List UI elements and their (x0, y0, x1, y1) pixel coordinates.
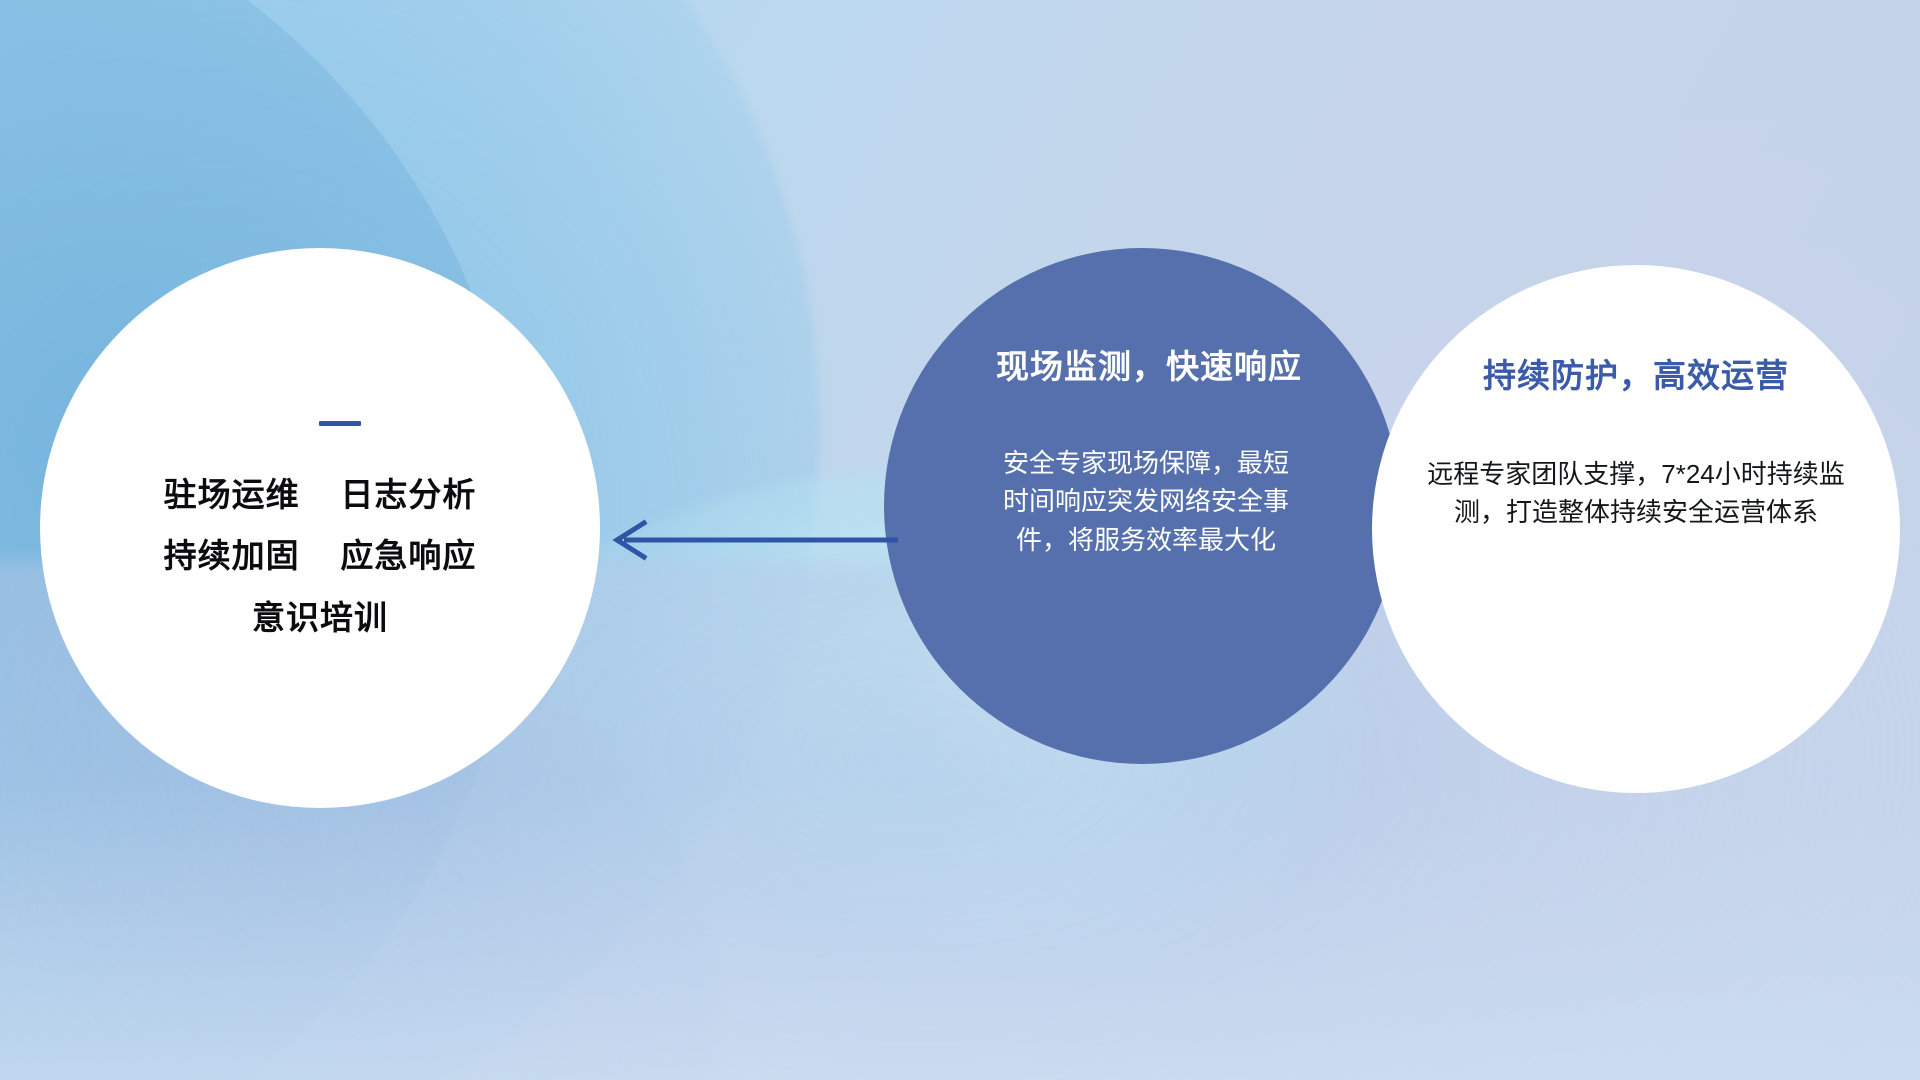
capability-list-item: 持续加固 应急响应 (164, 539, 477, 574)
capability-list: 驻场运维 日志分析 持续加固 应急响应 意识培训 (164, 478, 477, 636)
onsite-monitoring-title: 现场监测，快速响应 (996, 340, 1302, 388)
continuous-protection-title: 持续防护，高效运营 (1483, 349, 1789, 397)
continuous-protection-body: 远程专家团队支撑，7*24小时持续监测，打造整体持续安全运营体系 (1426, 455, 1846, 532)
arrow-left-icon (600, 512, 900, 568)
onsite-monitoring-content: 现场监测，快速响应 安全专家现场保障，最短时间响应突发网络安全事件，将服务效率最… (884, 248, 1400, 764)
background-bottom-light (0, 780, 1920, 1080)
capability-circle-left: 驻场运维 日志分析 持续加固 应急响应 意识培训 (40, 248, 600, 808)
onsite-monitoring-body: 安全专家现场保障，最短时间响应突发网络安全事件，将服务效率最大化 (996, 444, 1296, 559)
continuous-protection-circle: 持续防护，高效运营 远程专家团队支撑，7*24小时持续监测，打造整体持续安全运营… (1372, 265, 1900, 793)
capability-list-item: 驻场运维 日志分析 (164, 478, 477, 513)
capability-circle-left-content: 驻场运维 日志分析 持续加固 应急响应 意识培训 (40, 248, 600, 808)
onsite-monitoring-circle: 现场监测，快速响应 安全专家现场保障，最短时间响应突发网络安全事件，将服务效率最… (884, 248, 1400, 764)
continuous-protection-content: 持续防护，高效运营 远程专家团队支撑，7*24小时持续监测，打造整体持续安全运营… (1372, 265, 1900, 793)
slide-canvas: 驻场运维 日志分析 持续加固 应急响应 意识培训 现场监测，快速响应 安全专家现… (0, 0, 1920, 1080)
accent-dash-divider (319, 421, 361, 426)
connector-arrow-left (600, 512, 900, 568)
capability-list-item: 意识培训 (252, 601, 388, 636)
